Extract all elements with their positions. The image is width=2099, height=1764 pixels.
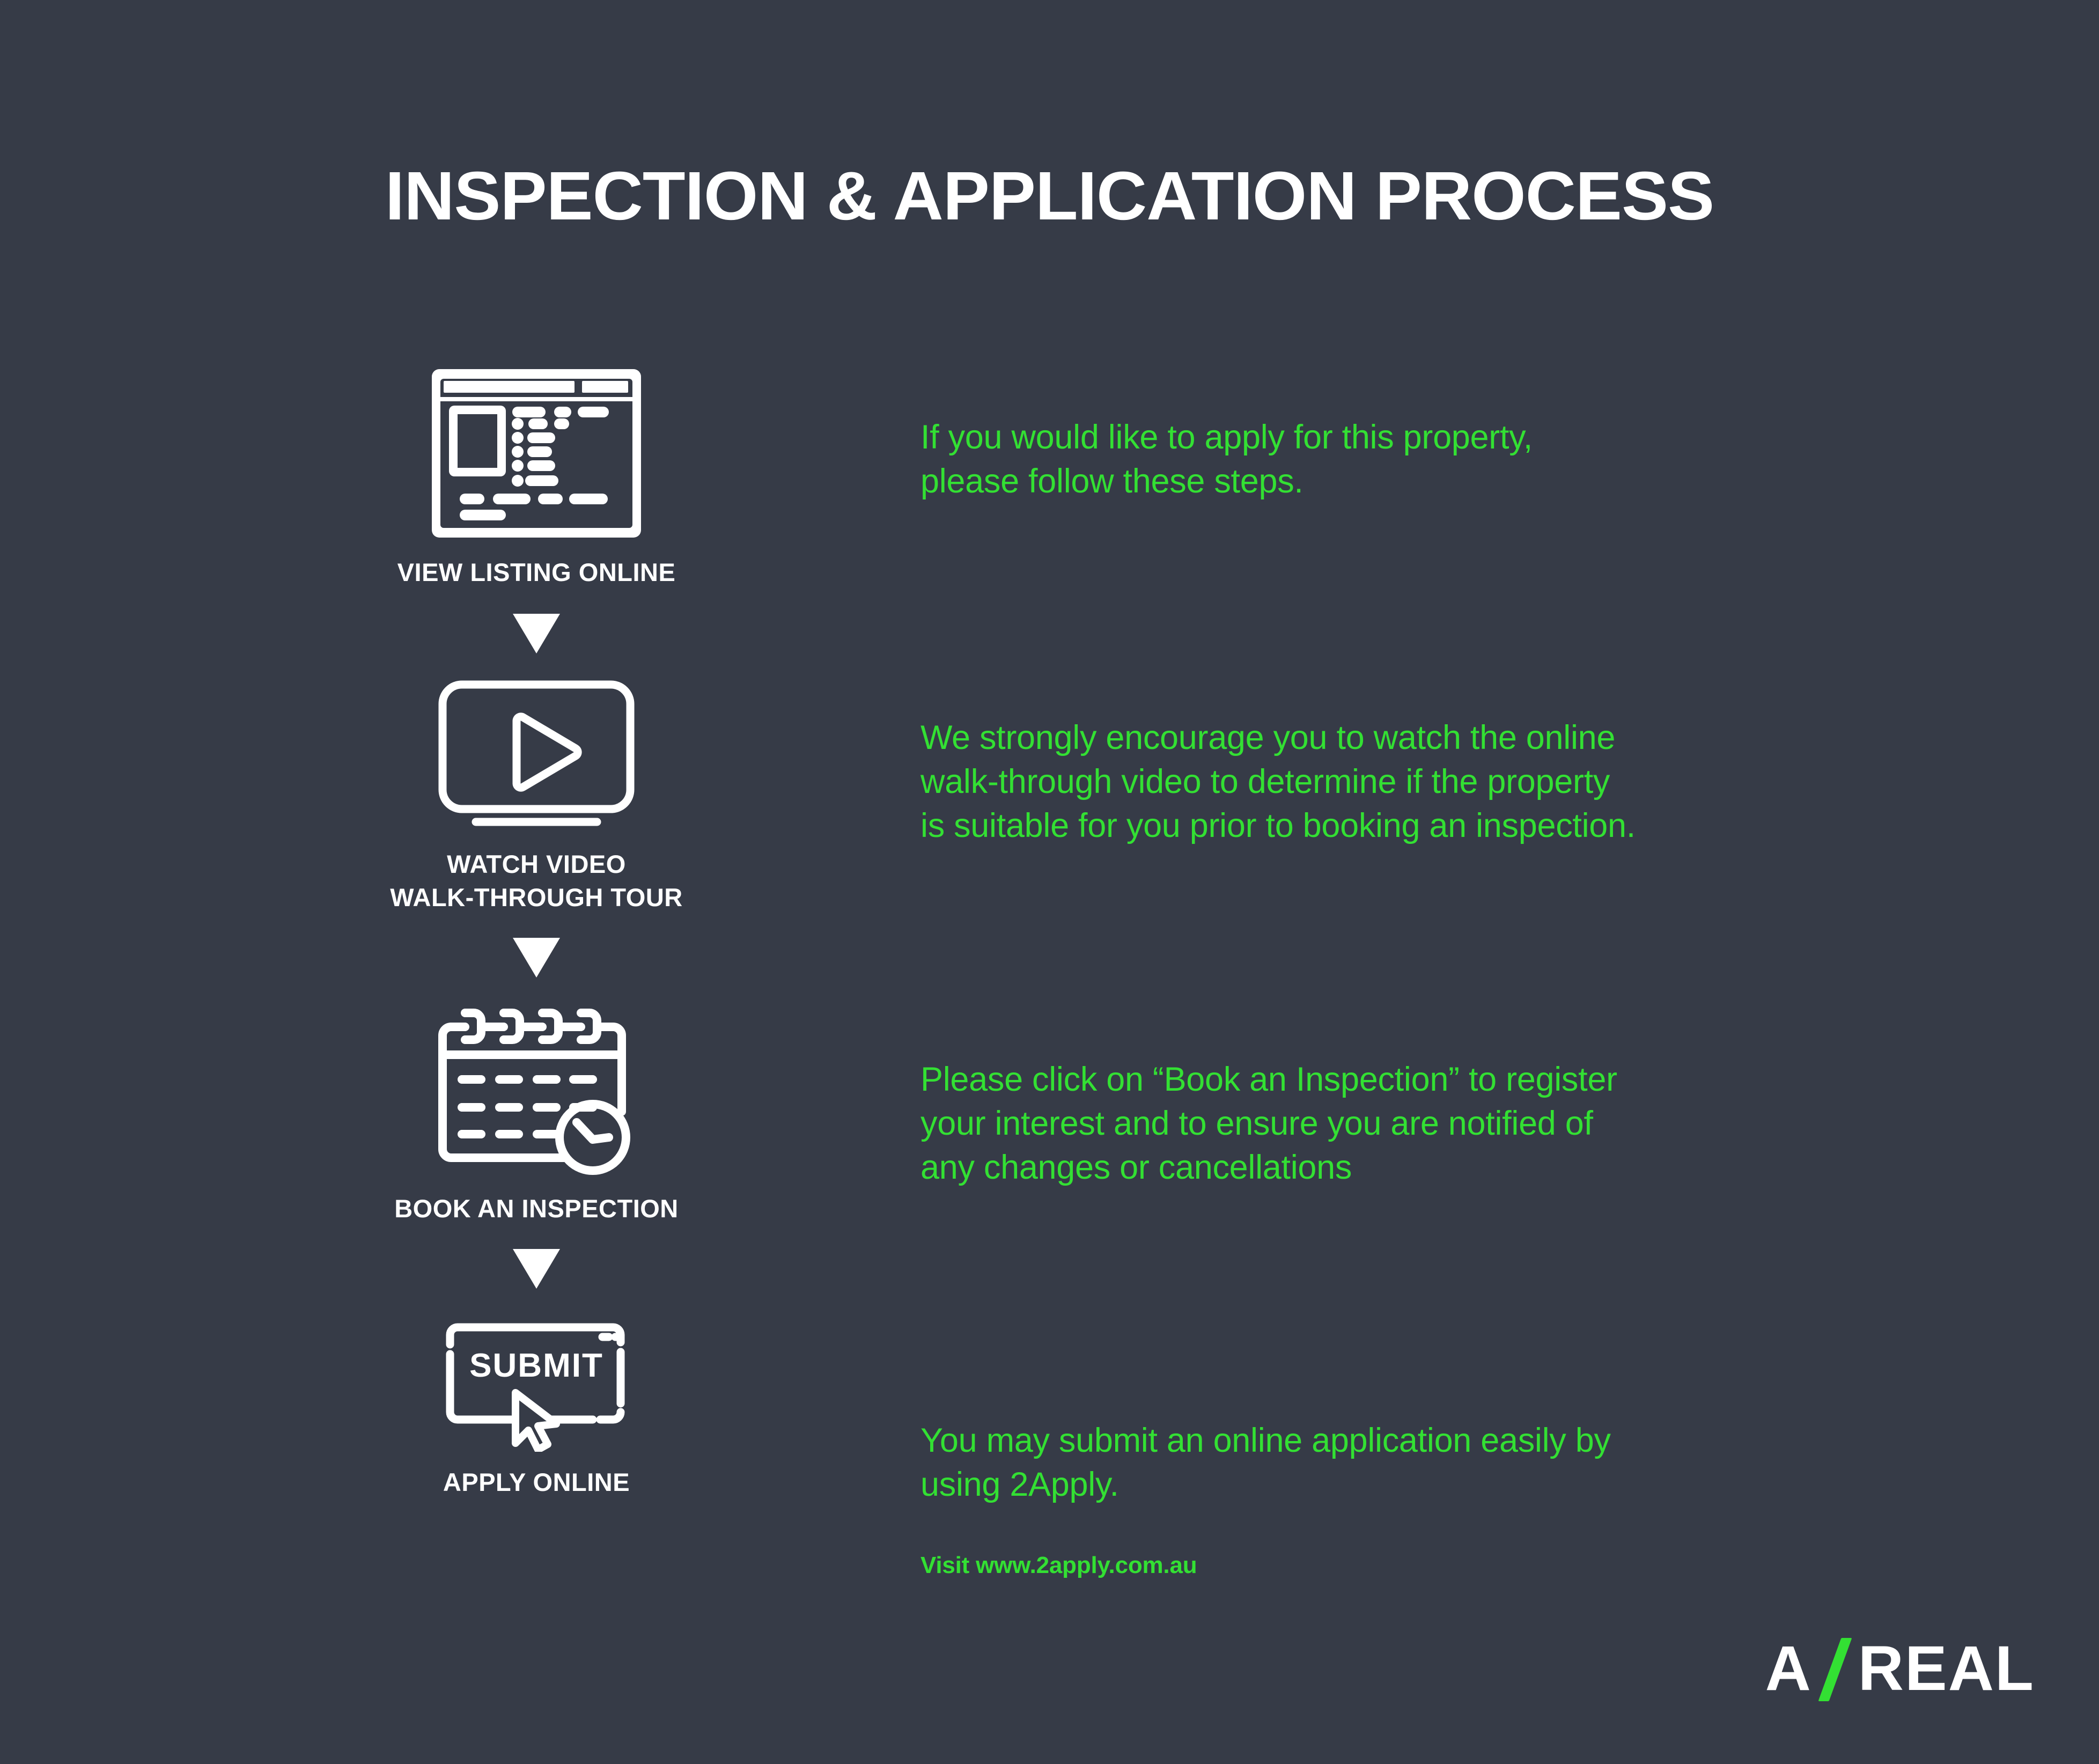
slash-icon <box>1815 1637 1855 1700</box>
logo-word-real: REAL <box>1858 1637 2035 1700</box>
brand-logo: A REAL <box>1765 1636 2035 1701</box>
step-watch-video: WATCH VIDEO WALK-THROUGH TOUR <box>300 678 772 914</box>
step-label-book-inspection: BOOK AN INSPECTION <box>300 1192 772 1225</box>
process-flow: VIEW LISTING ONLINE WATCH VIDEO WALK-THR… <box>300 365 772 1499</box>
logo-letter-a: A <box>1765 1637 1812 1700</box>
submit-icon-text: SUBMIT <box>469 1347 603 1384</box>
triangle-down-icon <box>300 614 772 653</box>
visit-link[interactable]: Visit www.2apply.com.au <box>920 1552 1197 1579</box>
step-book-inspection: BOOK AN INSPECTION <box>300 1001 772 1225</box>
copy-block-apply: You may submit an online application eas… <box>920 1419 1886 1507</box>
triangle-down-icon <box>300 1249 772 1289</box>
calendar-clock-icon <box>300 1001 772 1178</box>
video-player-icon <box>300 678 772 834</box>
copy-block-inspection: Please click on “Book an Inspection” to … <box>920 1058 1886 1190</box>
step-label-view-listing-online: VIEW LISTING ONLINE <box>300 556 772 589</box>
step-label-apply-online: APPLY ONLINE <box>300 1466 772 1499</box>
copy-block-intro: If you would like to apply for this prop… <box>920 416 1865 504</box>
listing-window-icon <box>300 365 772 542</box>
step-label-watch-video: WATCH VIDEO WALK-THROUGH TOUR <box>300 848 772 914</box>
page-title: INSPECTION & APPLICATION PROCESS <box>0 157 2099 236</box>
submit-button-cursor-icon: SUBMIT <box>300 1312 772 1452</box>
step-view-listing-online: VIEW LISTING ONLINE <box>300 365 772 589</box>
copy-block-video: We strongly encourage you to watch the o… <box>920 716 1918 848</box>
step-apply-online: SUBMIT APPLY ONLINE <box>300 1312 772 1499</box>
triangle-down-icon <box>300 938 772 977</box>
